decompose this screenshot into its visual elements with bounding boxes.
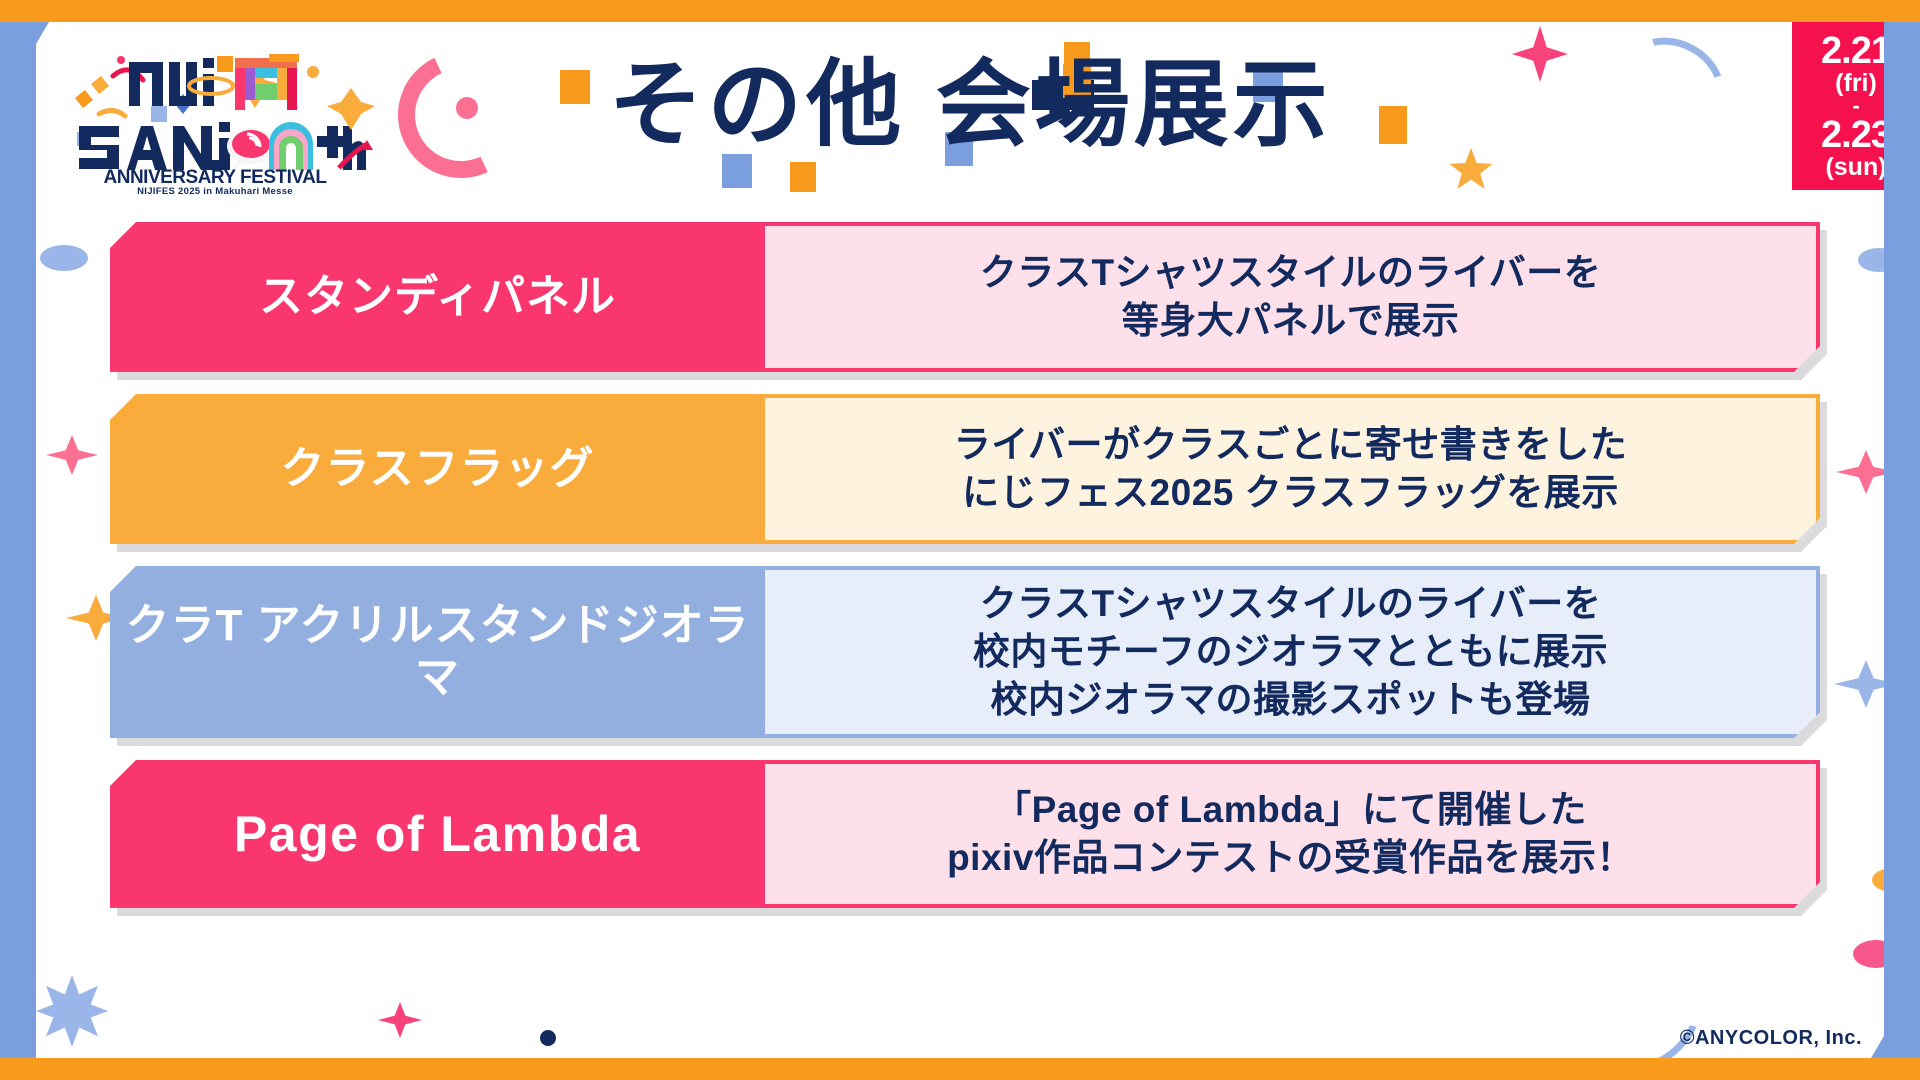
exhibit-desc-line: pixiv作品コンテストの受賞作品を展示！: [947, 834, 1634, 882]
exhibit-desc-line: 校内ジオラマの撮影スポットも登場: [973, 676, 1608, 724]
exhibit-title-line: クラスフラッグ: [280, 444, 594, 493]
page-title: その他 会場展示: [520, 56, 1420, 156]
exhibit-description: 「Page of Lambda」にて開催した pixiv作品コンテストの受賞作品…: [765, 760, 1820, 908]
exhibit-description: クラスTシャツスタイルのライバーを 校内モチーフのジオラマとともに展示 校内ジオ…: [765, 566, 1820, 738]
exhibit-title: スタンディパネル: [110, 222, 765, 372]
exhibit-desc-line: 「Page of Lambda」にて開催した: [947, 786, 1634, 834]
exhibit-title-line: Page of Lambda: [234, 806, 641, 862]
exhibit-desc-line: クラスTシャツスタイルのライバーを: [980, 249, 1602, 297]
deco-sparkle-pink-bottom: [378, 1002, 422, 1038]
exhibit-title-line: クラT: [126, 601, 244, 650]
frame-left-band: [0, 0, 36, 1080]
exhibit-desc-line: にじフェス2025 クラスフラッグを展示: [954, 469, 1628, 517]
exhibit-desc-line: 等身大パネルで展示: [980, 297, 1602, 345]
logo-artwork: ANNIVERSARY FESTIVAL NIJIFES 2025 in Mak…: [55, 40, 375, 195]
poster-stage: ANNIVERSARY FESTIVAL NIJIFES 2025 in Mak…: [0, 0, 1920, 1080]
title-accent-blue-left: [722, 154, 752, 188]
exhibit-title-line: アクリルスタンドジオラマ: [257, 601, 750, 702]
deco-dot-navy-bottom: [540, 1030, 556, 1046]
exhibit-desc-line: ライバーがクラスごとに寄せ書きをした: [954, 421, 1628, 469]
exhibit-row: クラT アクリルスタンドジオラマ クラスTシャツスタイルのライバーを 校内モチー…: [110, 566, 1820, 738]
exhibit-title-line: スタンディパネル: [259, 272, 616, 321]
exhibit-desc-line: 校内モチーフのジオラマとともに展示: [973, 628, 1608, 676]
exhibit-list: スタンディパネル クラスTシャツスタイルのライバーを 等身大パネルで展示 クラス…: [110, 222, 1820, 930]
logo-caption-text: NIJIFES 2025 in Makuhari Messe: [137, 186, 293, 195]
copyright-notice: ©ANYCOLOR, Inc.: [1680, 1027, 1862, 1050]
title-accent-amber-mid: [790, 162, 816, 192]
header: ANNIVERSARY FESTIVAL NIJIFES 2025 in Mak…: [0, 22, 1920, 212]
exhibit-row: Page of Lambda 「Page of Lambda」にて開催した pi…: [110, 760, 1820, 908]
frame-top-bar: [0, 0, 1920, 22]
exhibit-title: クラスフラッグ: [110, 394, 765, 544]
exhibit-title: Page of Lambda: [110, 760, 765, 908]
exhibit-row: クラスフラッグ ライバーがクラスごとに寄せ書きをした にじフェス2025 クラス…: [110, 394, 1820, 544]
frame-bottom-bar: [0, 1058, 1920, 1080]
logo-anniversary-text: ANNIVERSARY FESTIVAL: [104, 167, 328, 188]
exhibit-description: クラスTシャツスタイルのライバーを 等身大パネルで展示: [765, 222, 1820, 372]
exhibit-row: スタンディパネル クラスTシャツスタイルのライバーを 等身大パネルで展示: [110, 222, 1820, 372]
deco-star-blue-1: [36, 975, 108, 1047]
exhibit-description: ライバーがクラスごとに寄せ書きをした にじフェス2025 クラスフラッグを展示: [765, 394, 1820, 544]
exhibit-desc-line: クラスTシャツスタイルのライバーを: [973, 580, 1608, 628]
nijisanji-anniversary-logo: ANNIVERSARY FESTIVAL NIJIFES 2025 in Mak…: [55, 40, 375, 195]
deco-sparkle-pink-1: [46, 435, 98, 475]
date-end-day: (sun): [1825, 155, 1886, 180]
deco-dot-blue-2: [1860, 264, 1861, 265]
exhibit-title: クラT アクリルスタンドジオラマ: [110, 566, 765, 738]
date-start: 2.21: [1821, 32, 1891, 70]
deco-dot-blue-1: [40, 245, 88, 271]
frame-right-band: [1884, 0, 1920, 1080]
date-end: 2.23: [1821, 116, 1891, 154]
